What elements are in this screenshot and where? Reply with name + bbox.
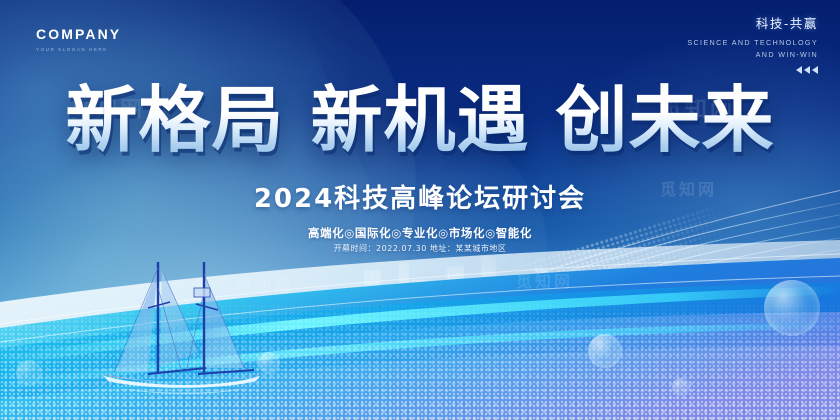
- subtitle: 2024科技高峰论坛研讨会: [0, 186, 840, 212]
- poster-canvas: 觅知网 觅知网 觅知网 觅知网 觅知网 COMPANY YOUR SLOGAN …: [0, 0, 840, 420]
- arrow-group: [687, 66, 818, 74]
- triangle-left-icon: [812, 66, 818, 74]
- bubble-4: [16, 360, 42, 386]
- headline-text: 新格局 新机遇 创未来: [65, 78, 774, 162]
- company-slogan: YOUR SLOGAN HERE: [36, 48, 121, 53]
- company-name: COMPANY: [36, 27, 121, 41]
- headline: 新格局 新机遇 创未来: [0, 84, 840, 156]
- tagline-en-line1: SCIENCE AND TECHNOLOGY: [687, 39, 818, 46]
- top-right-tagline: 科技-共赢 SCIENCE AND TECHNOLOGY AND WIN-WIN: [687, 18, 818, 74]
- bubble-2: [764, 280, 820, 336]
- company-logo[interactable]: COMPANY YOUR SLOGAN HERE: [36, 27, 121, 53]
- sailboat-icon: [86, 248, 276, 398]
- bubble-5: [672, 378, 690, 396]
- tagline-cn: 科技-共赢: [687, 18, 818, 31]
- triangle-left-icon: [796, 66, 802, 74]
- event-meta: 开幕时间：2022.07.30 地址：某某城市地区: [0, 245, 840, 253]
- bubble-1: [588, 334, 622, 368]
- triangle-left-icon: [804, 66, 810, 74]
- tagline-en-line2: AND WIN-WIN: [687, 51, 818, 58]
- keywords-line: 高端化◎国际化◎专业化◎市场化◎智能化: [0, 228, 840, 240]
